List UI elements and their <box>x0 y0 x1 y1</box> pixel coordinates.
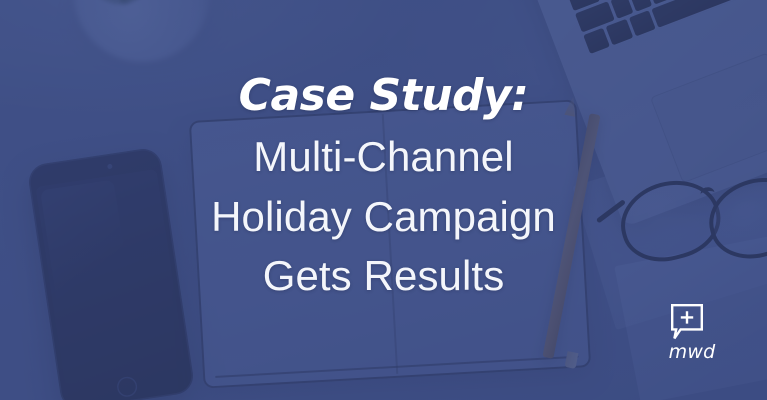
mwd-logo[interactable]: mwd <box>655 303 719 362</box>
banner-content: Case Study: Multi-Channel Holiday Campai… <box>0 0 767 400</box>
headline-line-2: Holiday Campaign <box>211 187 556 247</box>
headline-line-3: Gets Results <box>263 246 505 306</box>
headline-line-1: Multi-Channel <box>253 127 513 187</box>
headline-eyebrow: Case Study: <box>239 74 529 118</box>
speech-bubble-plus-icon <box>669 303 705 341</box>
mwd-wordmark: mwd <box>669 343 716 362</box>
case-study-banner: Case Study: Multi-Channel Holiday Campai… <box>0 0 767 400</box>
